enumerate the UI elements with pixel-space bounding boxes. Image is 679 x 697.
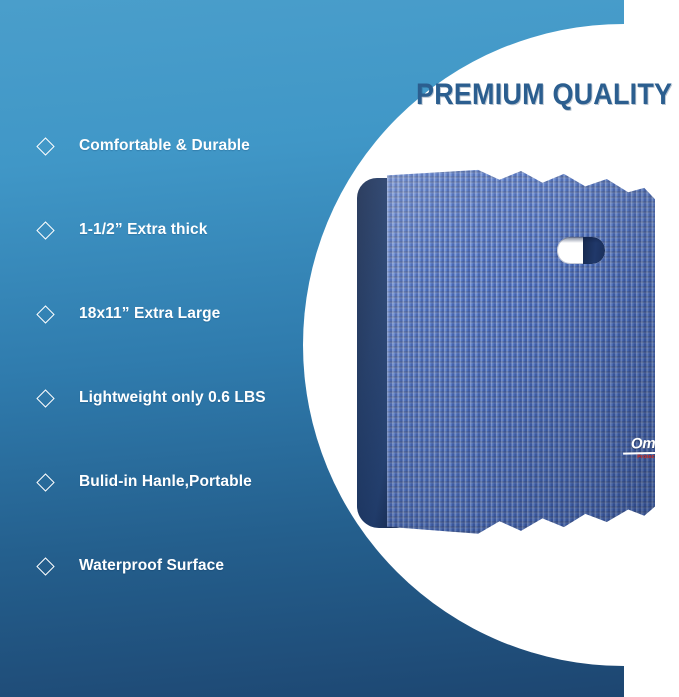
list-item: Waterproof Surface [0,524,320,608]
diamond-outline-icon [36,557,54,575]
brand-tagline: Protects You [623,454,655,461]
brand-name: OmiXe [623,435,655,451]
diamond-outline-icon [36,473,54,491]
list-item: Bulid-in Hanle,Portable [0,440,320,524]
product-image-kneeling-mat: OmiXe Protects You [357,168,655,543]
feature-list: Comfortable & Durable 1-1/2” Extra thick… [0,104,320,608]
mat-lighting-overlay [387,168,655,536]
page-title: PREMIUM QUALITY [416,78,643,112]
feature-label: 18x11” Extra Large [79,305,220,323]
carry-handle-cutout [557,237,605,264]
brand-logo: OmiXe Protects You [623,435,655,460]
diamond-outline-icon [36,221,54,239]
diamond-outline-icon [36,137,54,155]
handle-top-lip [557,237,605,243]
diamond-outline-icon [36,389,54,407]
feature-label: 1-1/2” Extra thick [79,221,207,239]
list-item: Comfortable & Durable [0,104,320,188]
list-item: 1-1/2” Extra thick [0,188,320,272]
feature-label: Lightweight only 0.6 LBS [79,389,266,407]
feature-label: Comfortable & Durable [79,137,250,155]
diamond-outline-icon [36,305,54,323]
product-marketing-image: PREMIUM QUALITY Comfortable & Durable 1-… [0,0,679,697]
list-item: 18x11” Extra Large [0,272,320,356]
feature-label: Bulid-in Hanle,Portable [79,473,252,491]
mat-front-face: OmiXe Protects You [387,168,655,536]
list-item: Lightweight only 0.6 LBS [0,356,320,440]
feature-label: Waterproof Surface [79,557,224,575]
